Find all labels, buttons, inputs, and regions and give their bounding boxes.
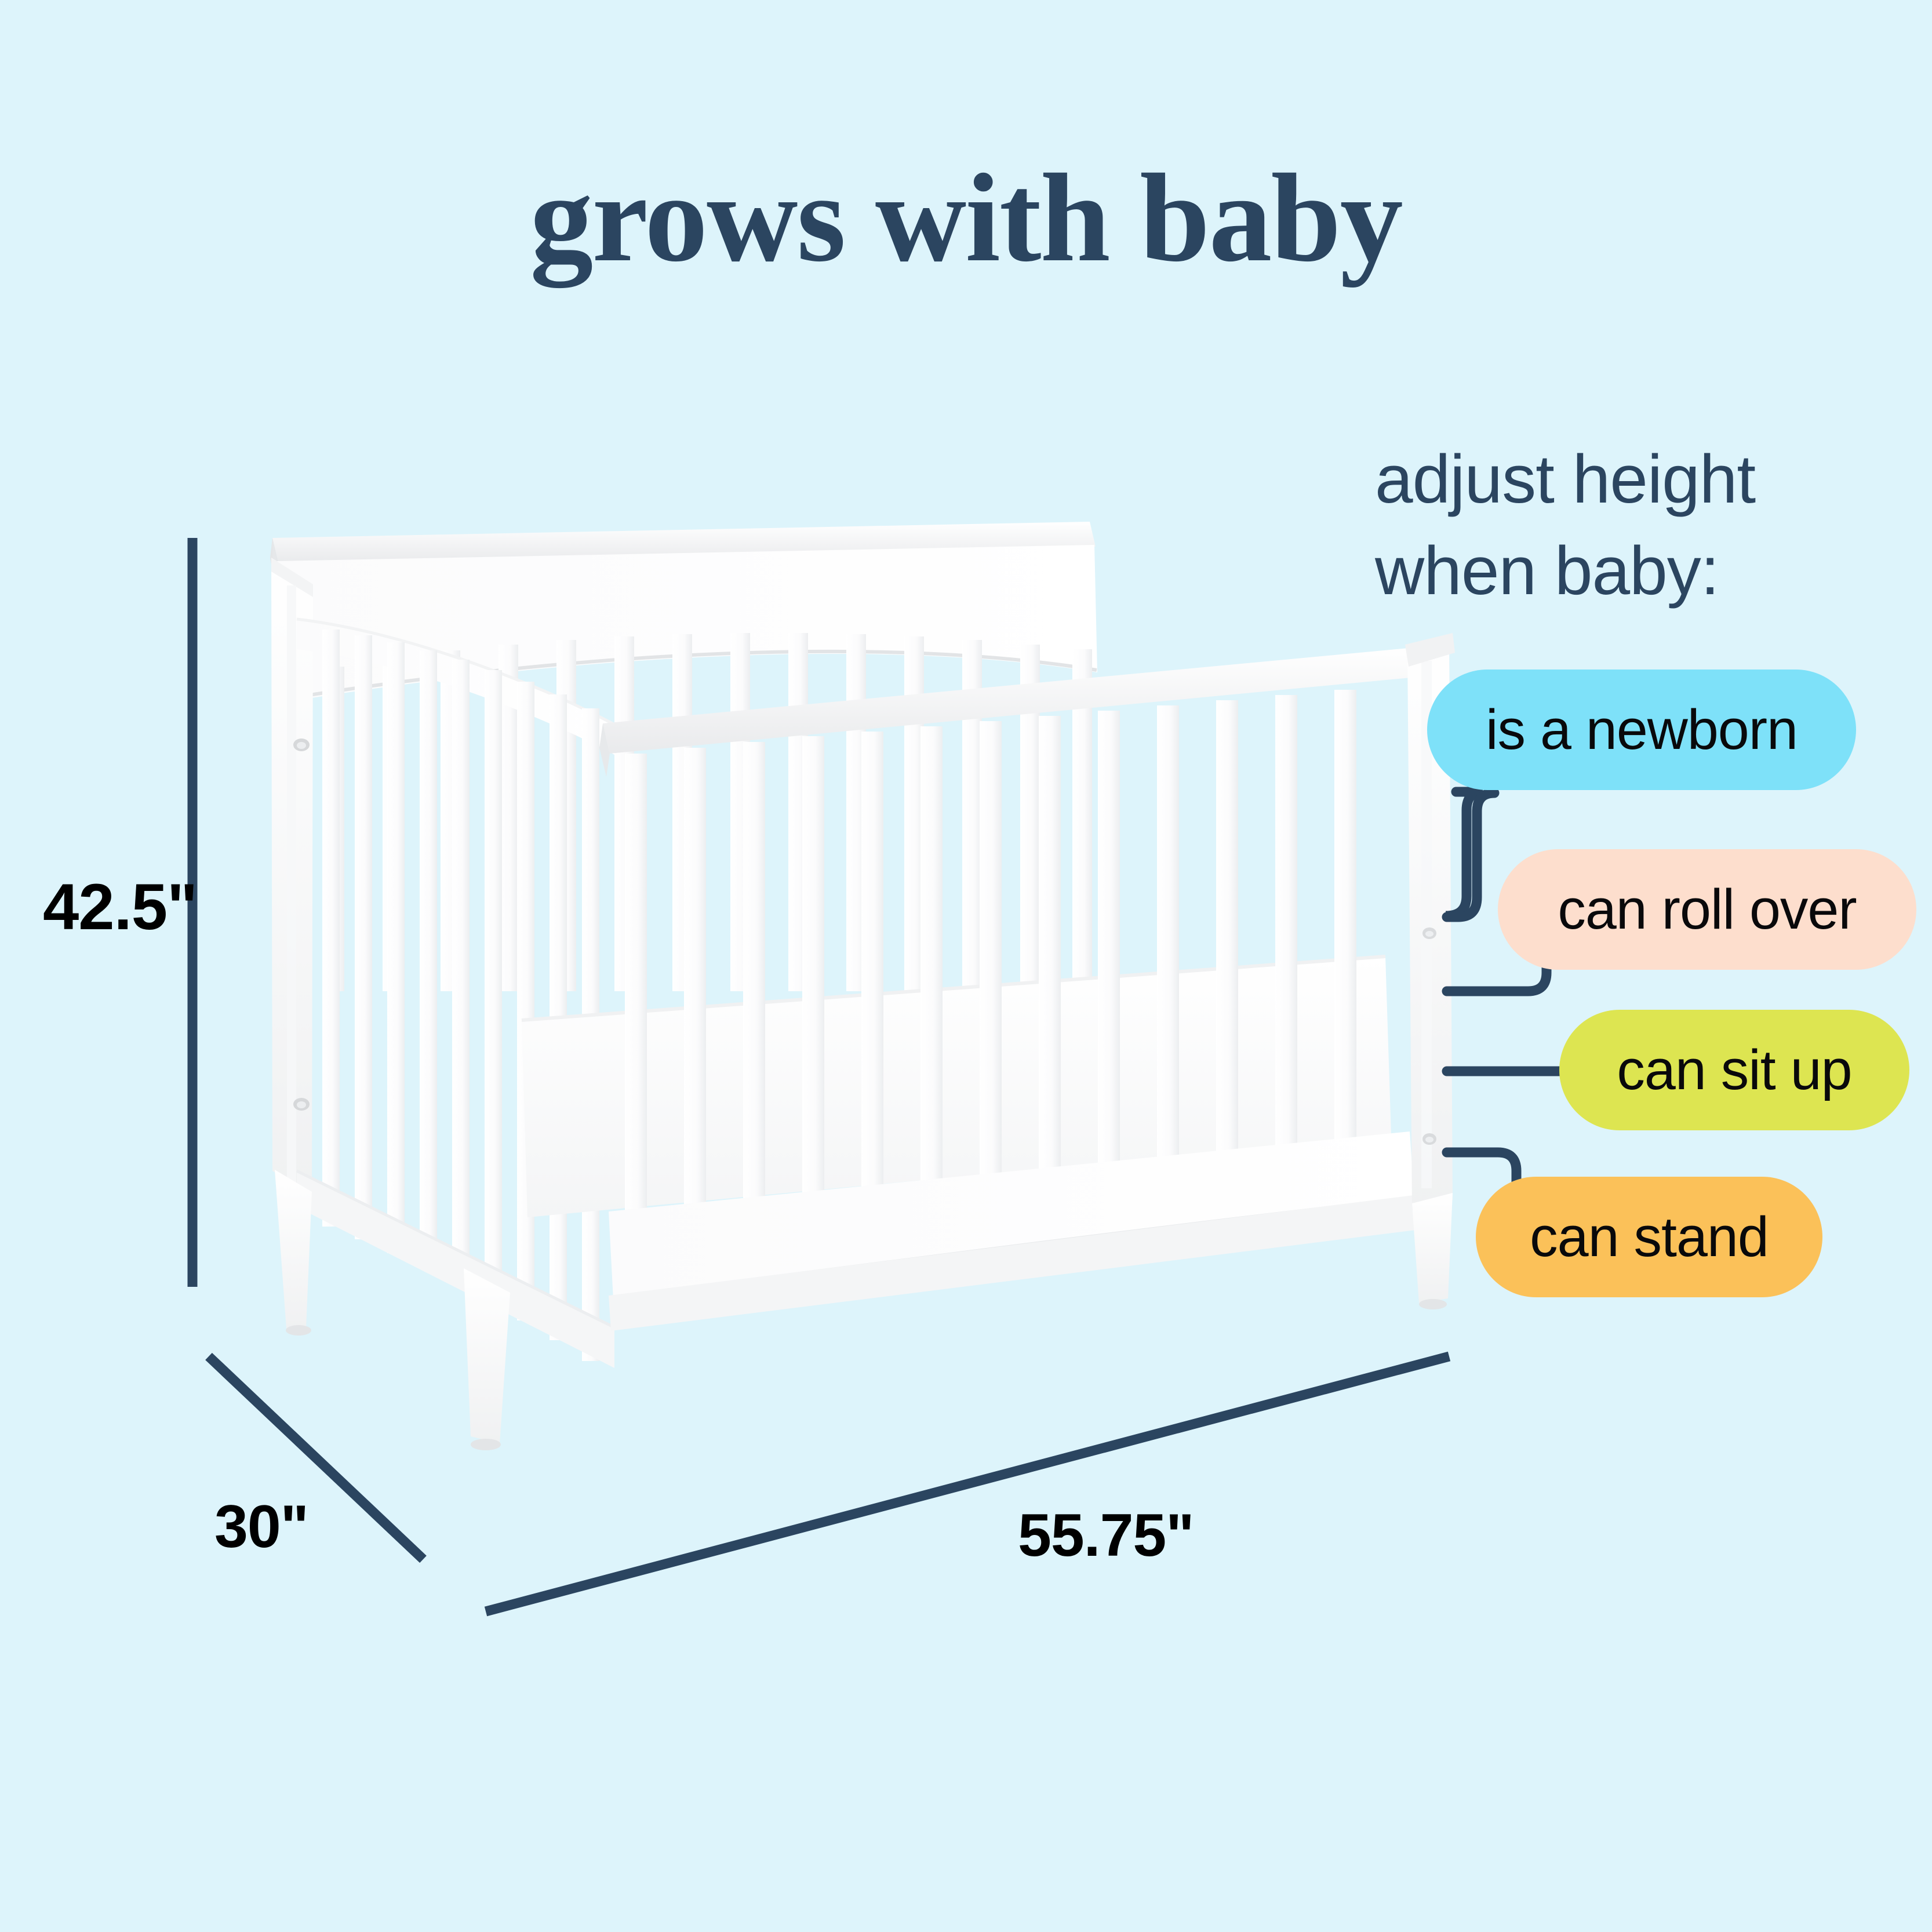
milestone-pill-sit-up[interactable]: can sit up xyxy=(1559,1010,1909,1130)
depth-dimension-label: 30" xyxy=(214,1493,308,1562)
milestone-pill-stand[interactable]: can stand xyxy=(1476,1177,1822,1297)
milestone-pill-roll-over[interactable]: can roll over xyxy=(1498,849,1916,970)
callout-heading-line-1: adjust height xyxy=(1375,434,1815,525)
milestone-pill-newborn[interactable]: is a newborn xyxy=(1427,670,1856,790)
callout-heading: adjust height when baby: xyxy=(1375,434,1815,617)
height-dimension-label: 42.5" xyxy=(43,869,197,944)
width-dimension-label: 55.75" xyxy=(1018,1501,1194,1570)
infographic-canvas: grows with baby xyxy=(0,0,1932,1932)
callout-heading-line-2: when baby: xyxy=(1375,525,1815,617)
